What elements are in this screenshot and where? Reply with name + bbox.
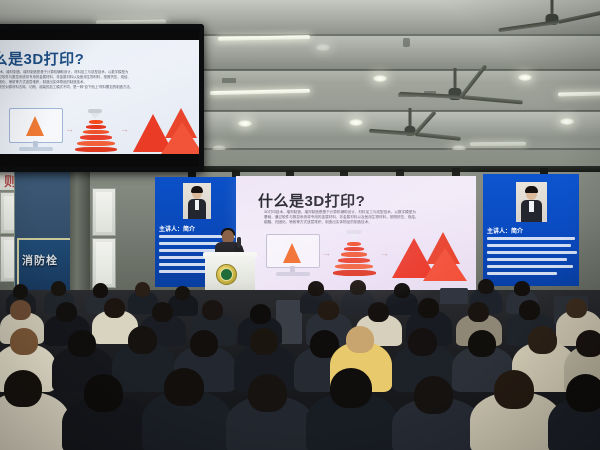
- audience-member: [330, 368, 372, 408]
- audience-member: [135, 282, 150, 297]
- emblem-center: [220, 268, 233, 281]
- audience-member: [566, 298, 587, 318]
- audience-member: [164, 368, 204, 406]
- audience-member: [478, 279, 494, 294]
- print-layer: [80, 135, 112, 140]
- finished-pyramid: [161, 122, 199, 154]
- audience-member: [566, 374, 600, 412]
- audience-member: [93, 283, 108, 298]
- center-body-line: 熔融、光固化、喷射等方式逐层堆积，制造出实体物品的制造技术。: [264, 220, 464, 225]
- arrow-icon: →: [380, 248, 389, 258]
- audience-member: [190, 330, 218, 357]
- bio-text-line: [487, 251, 577, 254]
- nozzle-cone-icon: [90, 113, 100, 119]
- bio-text-line: [487, 272, 557, 275]
- chair: [440, 288, 468, 304]
- audience-member: [4, 370, 42, 407]
- downlight: [349, 119, 363, 126]
- monitor-base-icon: [276, 272, 310, 276]
- audience-member: [10, 300, 31, 320]
- print-layer: [347, 242, 361, 246]
- print-layer: [333, 270, 376, 276]
- audience-member: [13, 284, 28, 299]
- print-layer: [89, 120, 103, 124]
- bio-text-line: [487, 237, 575, 240]
- right-panel-heading: 主讲人：简介: [487, 226, 523, 235]
- finished-pyramid: [423, 248, 467, 281]
- downlight: [373, 75, 387, 82]
- print-layer: [341, 252, 367, 257]
- print-layer: [344, 247, 364, 251]
- model-pyramid-icon: [26, 116, 44, 136]
- audience-member: [10, 328, 38, 355]
- audience-member: [418, 298, 439, 318]
- print-layer: [75, 147, 117, 152]
- downlight: [560, 118, 574, 125]
- wall-tv-monitor[interactable]: 什么是3D打印? 3D打印技术，增材制造，增材制造是基于计算机辅助设计，材料加工…: [0, 24, 204, 172]
- audience-member: [494, 370, 534, 409]
- audience-member: [514, 281, 530, 296]
- audience-member: [346, 326, 374, 353]
- fire-hydrant-label: 消防栓: [22, 252, 66, 268]
- print-layer: [86, 125, 106, 129]
- downlight: [238, 120, 252, 127]
- audience-member: [51, 281, 66, 296]
- audience-member: [468, 302, 489, 322]
- print-layer: [77, 141, 115, 146]
- audience-member: [84, 374, 123, 412]
- tube-light: [558, 91, 600, 96]
- lighting-truss: [150, 166, 600, 172]
- tv-slide: 什么是3D打印? 3D打印技术，增材制造，增材制造是基于计算机辅助设计，材料加工…: [0, 40, 199, 154]
- bio-text-line: [487, 244, 571, 247]
- center-slide-body: 3D打印技术，增材制造，增材制造是基于计算机辅助设计，材料加工与成型技术，以数字…: [264, 210, 464, 226]
- nozzle-cone-icon: [348, 234, 360, 241]
- audience-member: [248, 374, 287, 412]
- audience-member: [318, 300, 339, 320]
- photo-hair: [525, 186, 538, 193]
- audience-member: [152, 302, 173, 322]
- print-layer: [335, 264, 373, 269]
- tv-slide-body: 3D打印技术，增材制造，增材制造是基于计算机辅助设计，材料加工与成型技术，以数字…: [0, 70, 199, 90]
- audience-member: [175, 286, 190, 300]
- bio-text-line: [487, 265, 573, 268]
- audience-member: [576, 330, 600, 357]
- audience-member: [56, 302, 77, 322]
- audience-member: [250, 328, 278, 355]
- right-led-panel[interactable]: 主讲人：简介: [483, 174, 579, 286]
- notice-board: [92, 188, 116, 236]
- notice-board: [92, 238, 116, 288]
- arrow-icon: →: [322, 248, 331, 258]
- tv-body-line: 相对于传统的对原材料去除、切削、组装的加工模式不同，是一种“自下而上”材料累加的…: [0, 85, 199, 90]
- audience-member: [68, 330, 96, 357]
- center-slide-title: 什么是3D打印?: [258, 190, 365, 211]
- audience-member: [202, 300, 223, 320]
- audience-member: [308, 281, 324, 296]
- photo-hair: [191, 186, 203, 193]
- audience-member: [468, 330, 496, 357]
- audience-member: [528, 326, 557, 354]
- sprinkler-head: [403, 38, 410, 47]
- speaker-photo: [516, 182, 547, 222]
- tv-slide-title: 什么是3D打印?: [0, 48, 84, 69]
- tube-light: [470, 142, 526, 147]
- photo-shirt: [195, 200, 199, 210]
- arrow-icon: →: [120, 124, 129, 134]
- print-layer: [83, 130, 109, 134]
- audience-member: [414, 376, 453, 414]
- model-pyramid-icon: [283, 243, 301, 263]
- audience-member: [350, 280, 366, 295]
- audience-member: [408, 328, 437, 356]
- audience-member: [519, 300, 540, 320]
- audience-member: [394, 283, 410, 298]
- monitor-base-icon: [19, 147, 53, 151]
- ceiling-vent: [222, 78, 236, 83]
- photo-shirt: [529, 201, 534, 212]
- bio-text-line: [487, 258, 567, 261]
- wall-pillar: [70, 150, 90, 300]
- left-panel-heading: 主讲人：简介: [159, 224, 195, 233]
- audience-member: [368, 302, 389, 322]
- microphone-icon: [237, 237, 241, 248]
- photo-scene: 则器 消防栓 什么是3D打印? 3D打印技术，增材制造，增材制造是基于计算机辅助…: [0, 0, 600, 450]
- arrow-icon: →: [65, 124, 74, 134]
- print-layer: [338, 258, 370, 263]
- center-projection-screen[interactable]: 什么是3D打印? 3D打印技术，增材制造，增材制造是基于计算机辅助设计，材料加工…: [236, 176, 476, 292]
- downlight: [518, 74, 532, 81]
- downlight: [316, 44, 330, 51]
- audience-member: [250, 304, 271, 324]
- speaker-photo: [183, 183, 211, 219]
- audience-member: [128, 326, 157, 354]
- audience-member: [104, 298, 125, 318]
